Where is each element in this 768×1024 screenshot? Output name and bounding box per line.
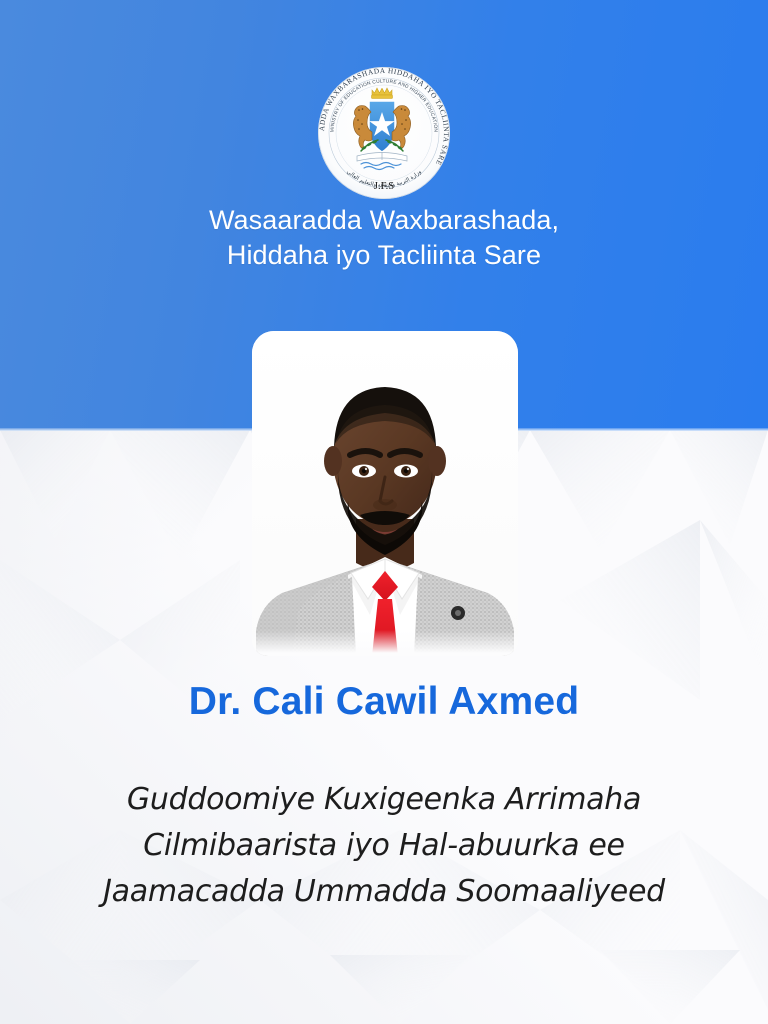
coat-of-arms-icon: WASAARADDA WAXBARASHADA HIDDAHA IYO TACL… <box>309 58 459 208</box>
person-role-line1: Guddoomiye Kuxigeenka Arrimaha <box>0 777 768 823</box>
ministry-title-line2: Hiddaha iyo Tacliinta Sare <box>0 238 768 273</box>
ministry-title-line1: Wasaaradda Waxbarashada, <box>209 205 559 235</box>
announcement-poster: WASAARADDA WAXBARASHADA HIDDAHA IYO TACL… <box>0 0 768 1024</box>
person-role-line3: Jaamacadda Ummadda Soomaaliyeed <box>0 869 768 915</box>
person-role: Guddoomiye Kuxigeenka Arrimaha Cilmibaar… <box>0 777 768 915</box>
portrait-illustration <box>252 331 518 656</box>
ministry-title: Wasaaradda Waxbarashada, Hiddaha iyo Tac… <box>0 203 768 273</box>
portrait-photo <box>252 331 518 656</box>
ministry-emblem: WASAARADDA WAXBARASHADA HIDDAHA IYO TACL… <box>308 58 460 198</box>
emblem-abbreviation: J.F.S <box>374 181 394 192</box>
person-name: Dr. Cali Cawil Axmed <box>0 679 768 725</box>
person-role-line2: Cilmibaarista iyo Hal-abuurka ee <box>0 823 768 869</box>
